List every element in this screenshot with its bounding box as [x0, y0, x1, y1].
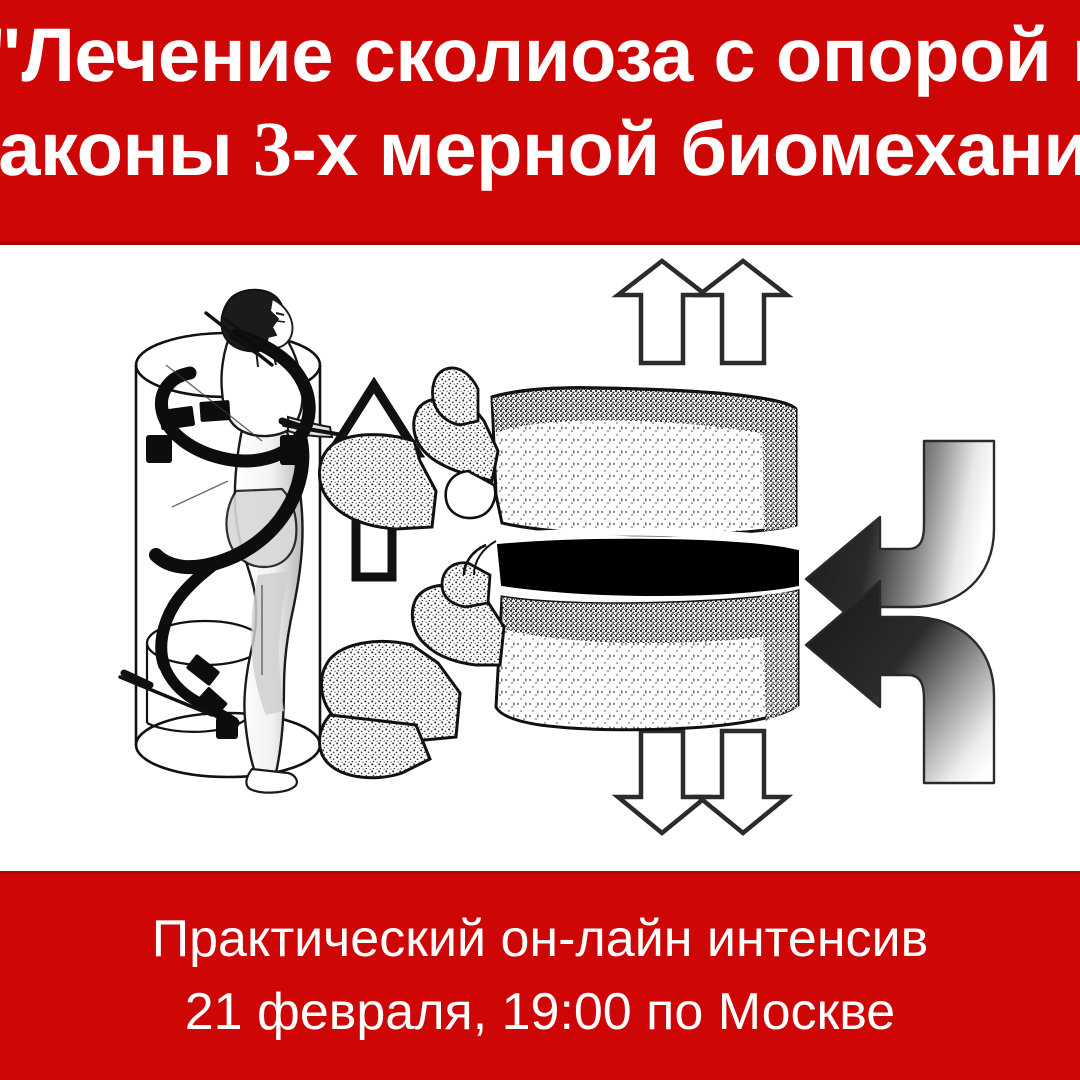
poster-title-line-1: "Лечение сколиоза с опорой на: [0, 18, 1080, 94]
footer-banner: Практический он-лайн интенсив 21 февраля…: [0, 871, 1080, 1080]
event-format-text: Практический он-лайн интенсив: [0, 913, 1080, 965]
curved-arrow-lower: [806, 581, 994, 783]
inferior-articular-process: [442, 563, 490, 607]
spinous-process: [320, 715, 431, 778]
arrow-up-1: [618, 261, 706, 363]
event-datetime-text: 21 февраля, 19:00 по Москве: [0, 986, 1080, 1038]
poster-title-prefix: законы: [0, 107, 253, 192]
poster-title-number: 3: [253, 105, 292, 192]
header-banner: "Лечение сколиоза с опорой на законы 3-х…: [0, 0, 1080, 245]
biomechanics-illustration: [0, 245, 1080, 871]
curved-compression-arrows: [806, 441, 994, 783]
poster-title-line-2: законы 3-х мерной биомеханики": [0, 110, 1080, 188]
poster-root: "Лечение сколиоза с опорой на законы 3-х…: [0, 0, 1080, 1080]
curved-arrow-upper: [806, 441, 994, 643]
axial-traction-arrows-up: [618, 261, 787, 363]
human-figure: [221, 290, 332, 793]
intervertebral-disc: [498, 540, 798, 595]
poster-title-suffix: -х мерной биомеханики": [291, 107, 1080, 192]
axial-traction-arrows-down: [618, 731, 787, 833]
arrow-down-1: [618, 731, 706, 833]
illustration-area: [0, 245, 1080, 871]
arrow-up-2: [699, 261, 787, 363]
arrow-down-2: [699, 731, 787, 833]
